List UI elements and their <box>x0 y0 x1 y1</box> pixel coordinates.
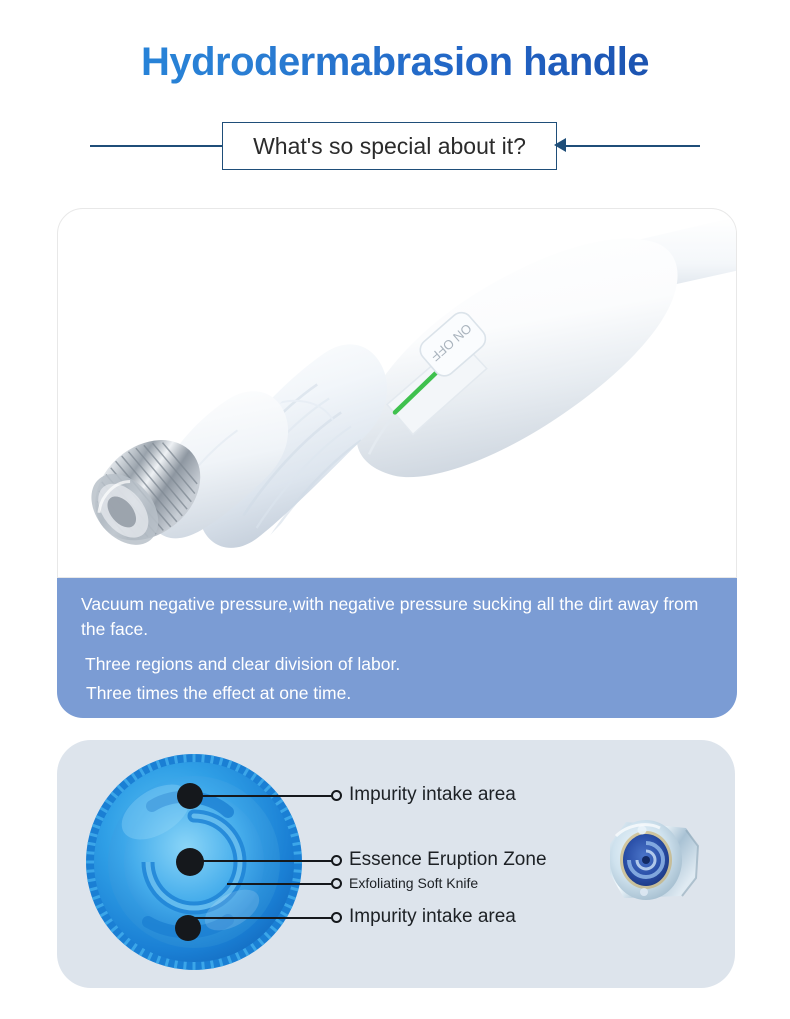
callout-marker-2 <box>331 855 342 866</box>
page-title: Hydrodermabrasion handle <box>0 40 790 85</box>
callout-label-essence: Essence Eruption Zone <box>349 849 547 871</box>
callout-marker-3 <box>331 878 342 889</box>
callout-marker-4 <box>331 912 342 923</box>
callout-dot-middle <box>176 848 204 876</box>
subtitle-text: What's so special about it? <box>253 133 526 160</box>
feature-text-effect: Three times the effect at one time. <box>86 681 713 706</box>
callout-label-exfoliating: Exfoliating Soft Knife <box>349 875 478 891</box>
feature-panel: Vacuum negative pressure,with negative p… <box>57 578 737 718</box>
diagram-section: Impurity intake area Essence Eruption Zo… <box>57 740 735 988</box>
callout-label-impurity-top: Impurity intake area <box>349 784 516 806</box>
callout-label-impurity-bottom: Impurity intake area <box>349 906 516 928</box>
leader-line-1 <box>185 795 333 797</box>
subtitle-banner: What's so special about it? <box>90 118 700 174</box>
subtitle-box: What's so special about it? <box>222 122 557 170</box>
handle-device-illustration: ON OFF <box>58 209 736 578</box>
product-image-card: ON OFF <box>57 208 737 578</box>
rule-line-left <box>90 145 240 147</box>
metallic-tip-photo <box>602 812 710 908</box>
leader-line-3 <box>227 883 333 885</box>
rule-line-right <box>562 145 700 147</box>
feature-text-vacuum: Vacuum negative pressure,with negative p… <box>81 592 713 642</box>
leader-line-2 <box>185 860 333 862</box>
callout-marker-1 <box>331 790 342 801</box>
spiral-tip-diagram <box>82 750 307 975</box>
leader-line-4 <box>183 917 333 919</box>
callout-dot-bottom <box>175 915 201 941</box>
feature-text-regions: Three regions and clear division of labo… <box>85 652 713 677</box>
